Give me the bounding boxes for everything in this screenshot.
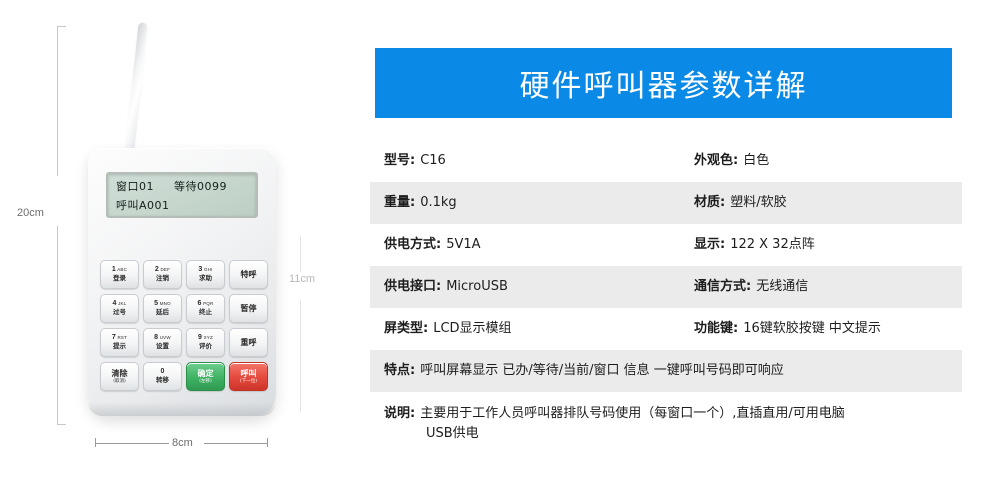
spec-cell: 重量:0.1kg [384,193,694,213]
spec-value-left: MicroUSB [446,277,508,297]
key-登录-0[interactable]: 1 ABC登录 [100,260,139,289]
spec-value-right: 塑料/软胶 [730,193,786,213]
key-设置-9[interactable]: 8 UVW设置 [143,328,182,357]
spec-row: 供电接口:MicroUSB通信方式:无线通信 [370,266,962,308]
spec-cell-note: 说明:主要用于工作人员呼叫器排队号码使用（每窗口一个）,直插直用/可用电脑USB… [384,404,962,444]
spec-value-right: 16键软胶按键 中文提示 [743,319,881,339]
spec-value-note-line2: USB供电 [426,424,946,444]
spec-label-note: 说明: [384,406,415,421]
key-清除-12[interactable]: 清除(取消) [100,362,139,391]
spec-cell: 型号:C16 [384,151,694,171]
lcd-screen: 窗口01 等待0099 呼叫A001 [106,172,258,218]
dimension-label-body-height: 11cm [286,272,318,286]
dimension-cap-top [57,26,66,27]
key-main-label: 暂停 [241,303,257,314]
key-main-label: 转移 [156,376,169,385]
dimension-cap-right [267,438,268,447]
dimension-cap-bottom [57,424,66,425]
key-终止-6[interactable]: 6 PQR终止 [186,294,225,323]
key-sub-label: (左移) [199,379,212,385]
key-转移-13[interactable]: 0转移 [143,362,182,391]
spec-label-feature: 特点: [384,361,415,381]
lcd-line-1: 窗口01 等待0099 [116,177,248,196]
spec-label-right: 显示: [694,235,725,255]
key-digit-label: 7 RST [112,334,127,342]
spec-label-left: 供电方式: [384,235,441,255]
dimension-guide-overall-height-lower [57,226,58,424]
spec-row: 型号:C16外观色:白色 [370,140,962,182]
lcd-line-2: 呼叫A001 [116,196,248,215]
spec-label-left: 重量: [384,193,415,213]
spec-label-right: 功能键: [694,319,738,339]
key-main-label: 登录 [113,274,126,283]
spec-value-right: 122 X 32点阵 [730,235,815,255]
spec-value-left: 5V1A [446,235,480,255]
key-注销-1[interactable]: 2 DEF注销 [143,260,182,289]
antenna [124,22,148,162]
key-digit-label: 0 [160,368,164,376]
spec-cell: 通信方式:无线通信 [694,277,962,297]
key-digit-label: 2 DEF [155,266,170,274]
spec-label-right: 材质: [694,193,725,213]
spec-cell: 显示:122 X 32点阵 [694,235,962,255]
spec-cell: 供电接口:MicroUSB [384,277,694,297]
key-main-label: 呼叫 [241,368,257,379]
keypad: 1 ABC登录2 DEF注销3 GHI求助特呼4 JKL过号5 MNO延后6 P… [100,260,268,391]
key-main-label: 求助 [199,274,212,283]
spec-label-left: 型号: [384,151,415,171]
spec-cell: 外观色:白色 [694,151,962,171]
key-main-label: 评价 [199,342,212,351]
spec-row: 重量:0.1kg材质:塑料/软胶 [370,182,962,224]
spec-value-left: 0.1kg [420,193,456,213]
spec-value-note-line1: 主要用于工作人员呼叫器排队号码使用（每窗口一个）,直插直用/可用电脑 [420,406,845,421]
key-main-label: 设置 [156,342,169,351]
key-提示-8[interactable]: 7 RST提示 [100,328,139,357]
dimension-guide-width-left [95,443,173,444]
spec-sheet-panel: 硬件呼叫器参数详解 型号:C16外观色:白色重量:0.1kg材质:塑料/软胶供电… [360,0,1000,492]
key-main-label: 确定 [198,368,214,379]
spec-table: 型号:C16外观色:白色重量:0.1kg材质:塑料/软胶供电方式:5V1A显示:… [370,140,962,454]
spec-cell: 材质:塑料/软胶 [694,193,962,213]
key-呼叫-15[interactable]: 呼叫(下一位) [229,362,268,391]
spec-cell: 特点:呼叫屏幕显示 已办/等待/当前/窗口 信息 一键呼叫号码即可响应 [384,361,962,381]
spec-title-bar: 硬件呼叫器参数详解 [375,48,952,118]
spec-row: 供电方式:5V1A显示:122 X 32点阵 [370,224,962,266]
key-sub-label: (取消) [113,379,126,385]
key-main-label: 清除 [112,368,128,379]
spec-row-note: 说明:主要用于工作人员呼叫器排队号码使用（每窗口一个）,直插直用/可用电脑USB… [370,392,962,454]
key-求助-2[interactable]: 3 GHI求助 [186,260,225,289]
spec-value-left: LCD显示模组 [433,319,511,339]
product-photo-panel: 20cm 11cm 8cm 窗口01 等待0099 呼叫A001 1 ABC登录… [0,0,360,492]
dimension-label-width: 8cm [169,436,196,450]
key-digit-label: 5 MNO [154,300,171,308]
spec-value-left: C16 [420,151,446,171]
spec-label-left: 屏类型: [384,319,428,339]
key-digit-label: 4 JKL [113,300,127,308]
key-延后-5[interactable]: 5 MNO延后 [143,294,182,323]
key-评价-10[interactable]: 9 XYZ评价 [186,328,225,357]
spec-row: 屏类型:LCD显示模组功能键:16键软胶按键 中文提示 [370,308,962,350]
spec-cell: 功能键:16键软胶按键 中文提示 [694,319,962,339]
key-digit-label: 3 GHI [198,266,212,274]
spec-label-right: 外观色: [694,151,738,171]
key-digit-label: 6 PQR [198,300,214,308]
spec-row-feature: 特点:呼叫屏幕显示 已办/等待/当前/窗口 信息 一键呼叫号码即可响应 [370,350,962,392]
spec-value-right: 无线通信 [756,277,808,297]
key-sub-label: (下一位) [240,379,257,385]
spec-cell: 供电方式:5V1A [384,235,694,255]
dimension-guide-width-right [204,443,267,444]
spec-cell: 屏类型:LCD显示模组 [384,319,694,339]
dimension-guide-body-height [300,236,301,276]
key-main-label: 特呼 [241,269,257,280]
key-main-label: 注销 [156,274,169,283]
dimension-cap-left [95,438,96,447]
key-main-label: 延后 [156,308,169,317]
page-title: 硬件呼叫器参数详解 [520,61,808,105]
key-digit-label: 1 ABC [112,266,127,274]
spec-value-right: 白色 [743,151,769,171]
key-digit-label: 8 UVW [154,334,171,342]
spec-label-right: 通信方式: [694,277,751,297]
key-main-label: 提示 [113,342,126,351]
key-重呼-11[interactable]: 重呼 [229,328,268,357]
dimension-guide-body-height-lower [300,300,301,412]
key-暂停-7[interactable]: 暂停 [229,294,268,323]
key-main-label: 终止 [199,308,212,317]
spec-value-feature: 呼叫屏幕显示 已办/等待/当前/窗口 信息 一键呼叫号码即可响应 [420,361,784,381]
key-main-label: 重呼 [241,337,257,348]
key-特呼-3[interactable]: 特呼 [229,260,268,289]
key-digit-label: 9 XYZ [198,334,213,342]
dimension-label-overall-height: 20cm [14,206,47,220]
dimension-guide-overall-height [57,26,58,176]
key-确定-14[interactable]: 确定(左移) [186,362,225,391]
key-过号-4[interactable]: 4 JKL过号 [100,294,139,323]
spec-label-left: 供电接口: [384,277,441,297]
key-main-label: 过号 [113,308,126,317]
